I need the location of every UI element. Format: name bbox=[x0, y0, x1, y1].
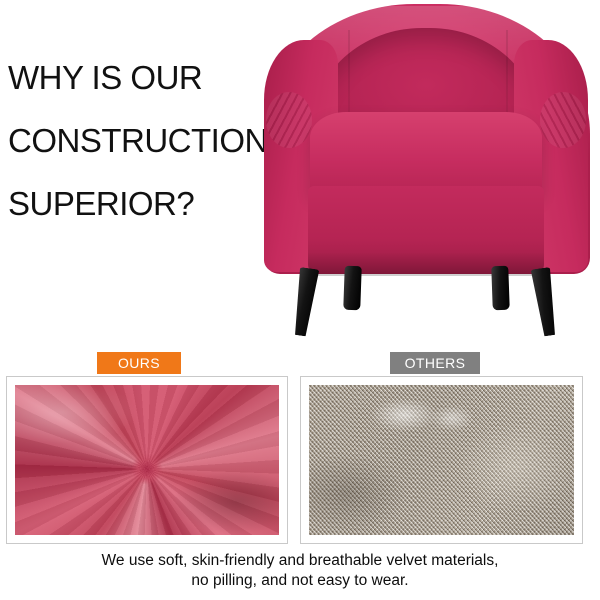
caption: We use soft, skin-friendly and breathabl… bbox=[0, 551, 600, 591]
chair-base-shadow bbox=[308, 252, 544, 276]
caption-line-2: no pilling, and not easy to wear. bbox=[0, 571, 600, 591]
chair-pleat-left bbox=[266, 92, 312, 148]
product-feature-image: WHY IS OUR CONSTRUCTION SUPERIOR? OURS O… bbox=[0, 0, 600, 600]
page-title: WHY IS OUR CONSTRUCTION SUPERIOR? bbox=[8, 46, 258, 235]
chair-leg-front-left bbox=[289, 267, 320, 337]
headline-line-1: WHY IS OUR bbox=[8, 46, 258, 109]
velvet-barrel-chair bbox=[252, 0, 600, 340]
chair-leg-front-right bbox=[529, 267, 560, 337]
badge-ours: OURS bbox=[97, 352, 181, 374]
chair-leg-back-right bbox=[491, 266, 510, 311]
badge-others: OTHERS bbox=[390, 352, 480, 374]
panel-ours bbox=[6, 376, 288, 544]
product-photo bbox=[252, 0, 600, 340]
headline-line-2: CONSTRUCTION bbox=[8, 109, 258, 172]
burlap-fabric-swatch bbox=[309, 385, 574, 535]
panel-others bbox=[300, 376, 583, 544]
chair-pleat-right bbox=[540, 92, 586, 148]
velvet-fabric-swatch bbox=[15, 385, 279, 535]
chair-leg-back-left bbox=[343, 266, 362, 311]
caption-line-1: We use soft, skin-friendly and breathabl… bbox=[0, 551, 600, 571]
headline-line-3: SUPERIOR? bbox=[8, 172, 258, 235]
